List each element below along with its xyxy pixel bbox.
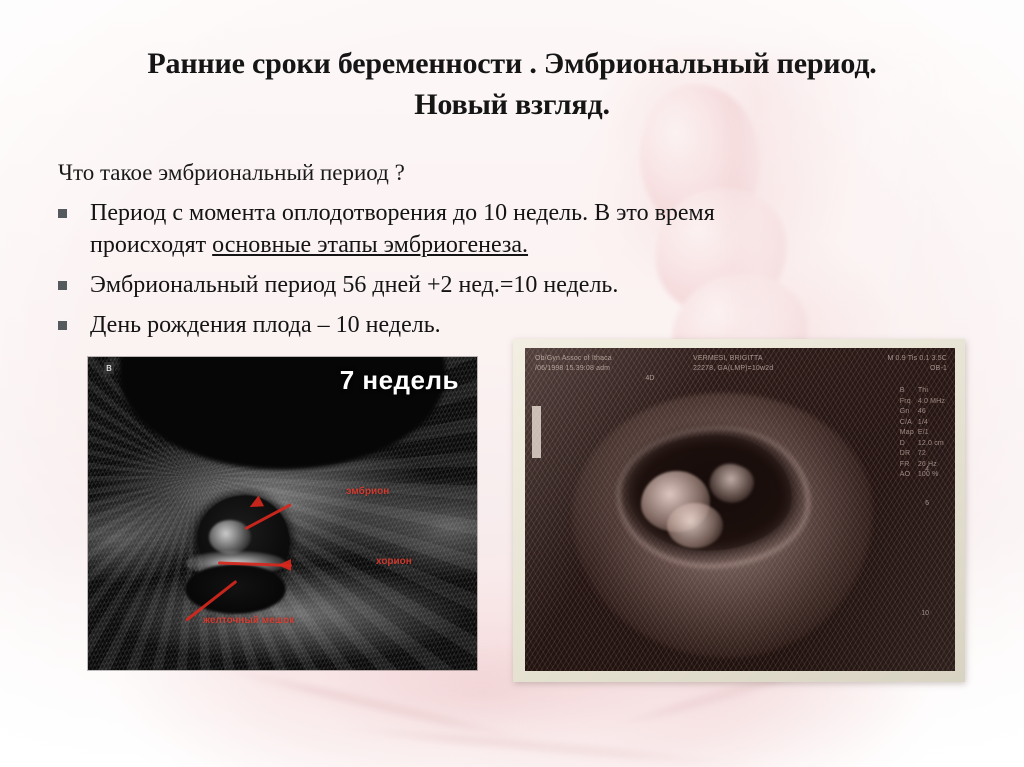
annotation-arrowhead-chorion xyxy=(278,559,291,571)
bullet-marker-icon xyxy=(58,209,67,218)
depth-marker: 10 xyxy=(921,610,929,617)
param-name: DR xyxy=(900,449,918,460)
bullet-text-underlined: основные этапы эмбриогенеза. xyxy=(212,232,528,258)
param-name: Frq xyxy=(900,397,918,408)
ultrasound-image-7-weeks: в 7 недель эмбрион хорион желточный мешо… xyxy=(88,357,477,670)
ultrasound-osd-header-right: M 0.9 Tis 0.1 3.5C OB-1 xyxy=(887,354,947,374)
depth-marker: 6 xyxy=(925,500,929,507)
bullet-text: Период с момента оплодотворения до 10 не… xyxy=(90,198,778,262)
osd-facility-name: Ob/Gyn Assoc of Ithaca xyxy=(535,354,612,364)
annotation-label-embryo: эмбрион xyxy=(346,486,389,497)
depth-marker: 4 xyxy=(925,466,929,473)
bullet-text: Эмбриональный период 56 дней +2 нед.=10 … xyxy=(90,270,778,302)
param-value: 4.0 MHz xyxy=(918,397,949,408)
table-row: D12.0 cm xyxy=(900,439,949,450)
presentation-slide: Ранние сроки беременности . Эмбриональны… xyxy=(0,0,1024,767)
list-item: Эмбриональный период 56 дней +2 нед.=10 … xyxy=(58,270,778,302)
param-name: Gn xyxy=(900,407,918,418)
param-name: D xyxy=(900,439,918,450)
table-row: BThi xyxy=(900,386,949,397)
osd-patient-name: VERMESI, BRIGITTA xyxy=(693,354,773,364)
bullet-marker-icon xyxy=(58,321,67,330)
param-name: AO xyxy=(900,470,918,481)
param-value: 12.0 cm xyxy=(918,439,949,450)
param-value: 72 xyxy=(918,449,949,460)
ultrasound-photo-frame: Ob/Gyn Assoc of Ithaca /06/1998 15.39:08… xyxy=(513,339,965,682)
param-value: 46 xyxy=(918,407,949,418)
param-name: C/A xyxy=(900,418,918,429)
param-name: Map xyxy=(900,428,918,439)
ultrasound-osd-header-left: Ob/Gyn Assoc of Ithaca /06/1998 15.39:08… xyxy=(535,354,612,374)
table-row: DR72 xyxy=(900,449,949,460)
param-name: B xyxy=(900,386,918,397)
param-name: FR xyxy=(900,460,918,471)
list-item: День рождения плода – 10 недель. xyxy=(58,310,778,342)
ultrasound-grayscale-bar xyxy=(532,406,541,458)
list-item: Период с момента оплодотворения до 10 не… xyxy=(58,198,778,262)
ultrasound-image-10-weeks: Ob/Gyn Assoc of Ithaca /06/1998 15.39:08… xyxy=(525,348,955,671)
ultrasound-osd-header-patient: VERMESI, BRIGITTA 22278, GA(LMP)=10w2d xyxy=(693,354,773,374)
osd-preset: OB-1 xyxy=(887,364,947,374)
table-row: MapE/1 xyxy=(900,428,949,439)
param-value: 1/4 xyxy=(918,418,949,429)
bullet-marker-icon xyxy=(58,281,67,290)
fetus-head xyxy=(667,503,723,548)
param-value: E/1 xyxy=(918,428,949,439)
ultrasound-osd-center-tag: 4D xyxy=(645,374,654,384)
slide-title-line-2: Новый взгляд. xyxy=(64,85,960,126)
param-value: 26 Hz xyxy=(918,460,949,471)
osd-patient-id-ga: 22278, GA(LMP)=10w2d xyxy=(693,364,773,374)
param-value: Thi xyxy=(918,386,949,397)
table-row: Frq4.0 MHz xyxy=(900,397,949,408)
gestational-age-label: 7 недель xyxy=(340,365,459,396)
annotation-label-yolk-sac: желточный мешок xyxy=(203,615,294,626)
slide-title-line-1: Ранние сроки беременности . Эмбриональны… xyxy=(64,44,960,85)
annotation-label-chorion: хорион xyxy=(376,556,412,567)
osd-mechanical-index: M 0.9 Tis 0.1 3.5C xyxy=(887,354,947,364)
osd-exam-datetime: /06/1998 15.39:08 adm xyxy=(535,364,612,374)
param-value: 100 % xyxy=(918,470,949,481)
table-row: C/A1/4 xyxy=(900,418,949,429)
slide-title: Ранние сроки беременности . Эмбриональны… xyxy=(64,44,960,125)
ultrasound-corner-tag: в xyxy=(104,362,114,374)
bullet-text: День рождения плода – 10 недель. xyxy=(90,310,778,342)
lead-question: Что такое эмбриональный период ? xyxy=(58,160,405,186)
bullet-list: Период с момента оплодотворения до 10 не… xyxy=(58,198,778,350)
table-row: Gn46 xyxy=(900,407,949,418)
